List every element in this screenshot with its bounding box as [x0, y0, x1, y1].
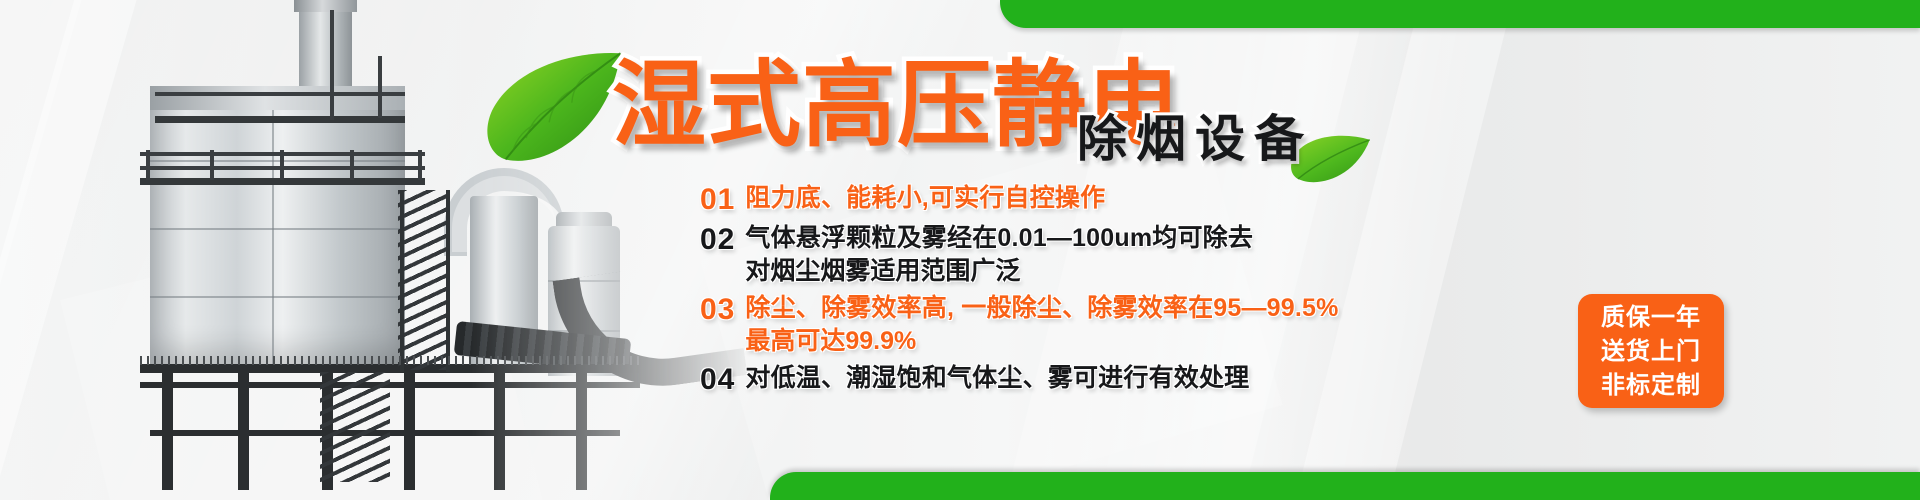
feature-text: 气体悬浮颗粒及雾经在0.01—100um均可除去	[745, 224, 1253, 252]
feature-number: 01	[700, 182, 735, 218]
feature-text: 阻力底、能耗小,可实行自控操作	[745, 184, 1105, 212]
photo-silo-band	[150, 228, 405, 230]
badge-line-warranty: 质保一年	[1601, 301, 1701, 335]
feature-number: 03	[700, 292, 735, 328]
photo-stack-cap	[294, 0, 357, 12]
photo-stair-rail	[400, 190, 404, 372]
photo-silo-band	[150, 296, 405, 298]
photo-railing-post	[280, 150, 284, 180]
photo-walkway	[155, 116, 405, 123]
photo-railing	[155, 92, 405, 96]
photo-silo-seam	[272, 110, 274, 365]
photo-silo-body	[150, 110, 405, 365]
photo-grating	[140, 356, 640, 365]
feature-item-02: 02 气体悬浮颗粒及雾经在0.01—100um均可除去 对烟尘烟雾适用范围广泛	[700, 222, 1600, 288]
photo-stairway	[398, 190, 450, 370]
page-subtitle: 除烟设备	[1077, 110, 1313, 168]
feature-item-04: 04 对低温、潮湿饱和气体尘、雾可进行有效处理	[700, 362, 1600, 398]
photo-stair-rail	[446, 190, 450, 372]
feature-text-secondary: 最高可达99.9%	[745, 327, 916, 355]
badge-line-custom: 非标定制	[1601, 369, 1701, 403]
headline: 湿式高压静电 除烟设备	[612, 52, 1672, 172]
photo-railing-post	[378, 56, 382, 118]
feature-item-01: 01 阻力底、能耗小,可实行自控操作	[700, 182, 1600, 218]
feature-text-secondary: 对烟尘烟雾适用范围广泛	[745, 257, 1020, 285]
photo-support-beam	[140, 382, 640, 388]
photo-railing-post	[146, 150, 150, 180]
green-accent-bar-bottom	[770, 472, 1920, 500]
photo-silo-band	[150, 160, 405, 162]
feature-text: 除尘、除雾效率高, 一般除尘、除雾效率在95—99.5%	[745, 294, 1338, 322]
promo-banner: 湿式高压静电 除烟设备 01 阻力底、能耗小,可实行自控操作 02 气体悬浮颗粒…	[0, 0, 1920, 500]
photo-support-beam	[140, 364, 640, 373]
feature-number: 04	[700, 362, 735, 398]
green-accent-bar-top	[1000, 0, 1920, 28]
guarantee-badge[interactable]: 质保一年 送货上门 非标定制	[1578, 294, 1724, 408]
badge-line-delivery: 送货上门	[1601, 335, 1701, 369]
photo-railing-post	[350, 150, 354, 180]
photo-railing-post	[330, 10, 334, 120]
feature-text: 对低温、潮湿饱和气体尘、雾可进行有效处理	[745, 364, 1249, 392]
photo-railing-post	[210, 150, 214, 180]
photo-stairway	[320, 372, 390, 482]
feature-list: 01 阻力底、能耗小,可实行自控操作 02 气体悬浮颗粒及雾经在0.01—100…	[700, 182, 1600, 402]
feature-item-03: 03 除尘、除雾效率高, 一般除尘、除雾效率在95—99.5% 最高可达99.9…	[700, 292, 1600, 358]
leaf-icon	[476, 47, 631, 165]
photo-railing-post	[418, 150, 422, 180]
feature-number: 02	[700, 222, 735, 258]
